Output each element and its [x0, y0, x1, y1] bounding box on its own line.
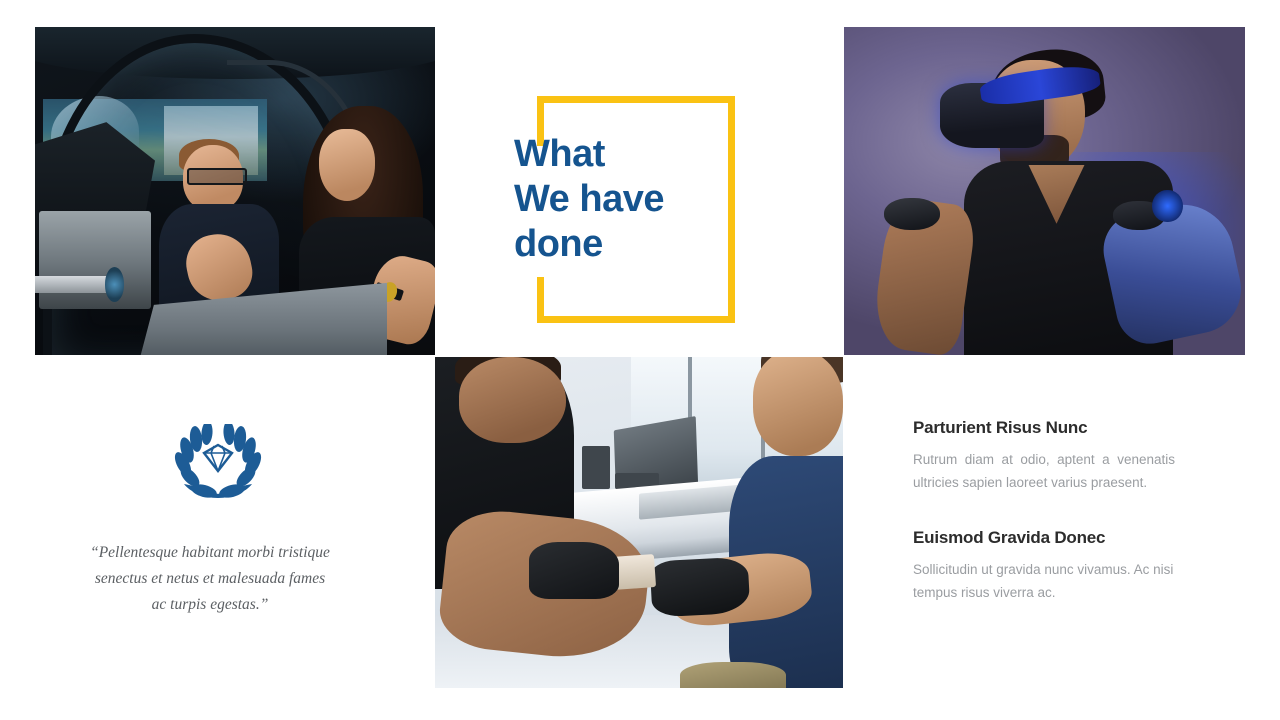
eyeglasses-icon	[187, 168, 247, 185]
desk-equipment	[582, 446, 611, 489]
patient-head	[753, 357, 843, 456]
simulator-axle	[35, 276, 119, 292]
frame-border-left-bottom-stub	[537, 277, 544, 323]
block-body-2: Sollicitudin ut gravida nunc vivamus. Ac…	[913, 558, 1175, 604]
laurel-wreath-diamond-icon	[170, 424, 266, 504]
quote-line-3: ac turpis egestas.”	[62, 592, 358, 618]
vr-controller-right	[1113, 201, 1165, 231]
block-body-1: Rutrum diam at odio, aptent a venenatis …	[913, 448, 1175, 494]
text-column: Parturient Risus Nunc Rutrum diam at odi…	[913, 418, 1175, 604]
block-heading-1: Parturient Risus Nunc	[913, 418, 1175, 438]
slide-canvas: What We have done	[0, 0, 1280, 720]
simulator-scene	[35, 27, 435, 355]
vr-scene	[844, 27, 1245, 355]
frame-border-bottom	[537, 316, 735, 323]
frame-border-top	[537, 96, 735, 103]
block-heading-2: Euismod Gravida Donec	[913, 528, 1175, 548]
photo-prosthetic-arm-fitting	[435, 357, 843, 688]
prosthetic-lab-scene	[435, 357, 843, 688]
woman-face	[319, 129, 375, 201]
frame-border-right	[728, 96, 735, 323]
vr-controller-left	[884, 198, 940, 231]
page-title: What We have done	[514, 132, 724, 267]
column-spacer	[913, 494, 1175, 528]
title-frame-block: What We have done	[537, 96, 735, 323]
technician-head	[459, 357, 565, 443]
testimonial-quote: “Pellentesque habitant morbi tristique s…	[62, 540, 358, 618]
simulator-equipment-box	[39, 211, 151, 309]
photo-vr-headset-user	[844, 27, 1245, 355]
quote-line-2: senectus et netus et malesuada fames	[62, 566, 358, 592]
floor-bag	[680, 662, 786, 688]
quote-line-1: “Pellentesque habitant morbi tristique	[62, 540, 358, 566]
page-title-line-3: done	[514, 222, 724, 267]
prosthetic-hand-icon	[529, 542, 619, 598]
page-title-line-2: We have	[514, 177, 724, 222]
photo-flight-simulator	[35, 27, 435, 355]
page-title-line-1: What	[514, 132, 724, 177]
